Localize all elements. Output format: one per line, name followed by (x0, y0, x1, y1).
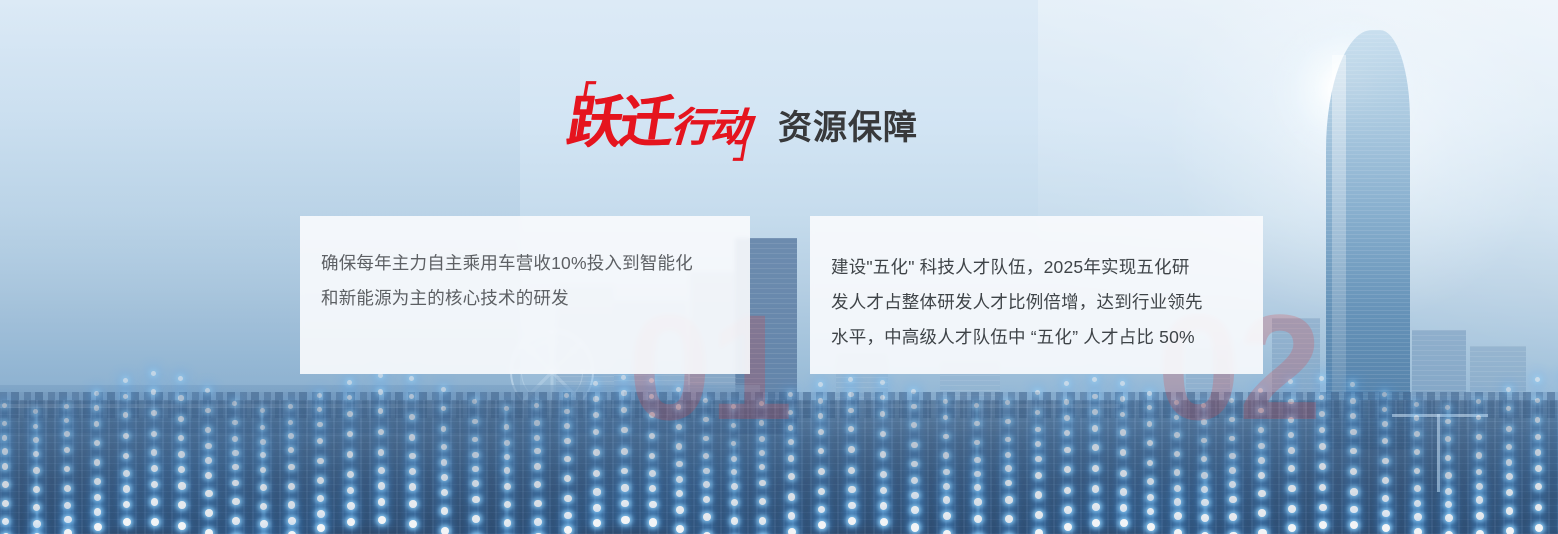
network-dot (409, 500, 417, 508)
network-dot (593, 449, 600, 456)
network-dot (347, 395, 352, 400)
network-dot (534, 448, 540, 454)
network-dot (1382, 438, 1388, 444)
network-dot (1319, 443, 1326, 450)
network-dot (880, 487, 887, 494)
network-dot (472, 466, 479, 473)
network-dot (1092, 519, 1100, 527)
network-dot (731, 456, 737, 462)
network-dot (1147, 460, 1154, 467)
network-dot (260, 503, 267, 510)
network-dot (731, 483, 738, 490)
network-dot (178, 376, 183, 381)
network-dot (1092, 394, 1097, 399)
network-dot (1120, 429, 1126, 435)
network-dot (1147, 405, 1152, 410)
network-dot (178, 466, 185, 473)
network-dot (94, 494, 101, 501)
network-dot (1120, 412, 1126, 418)
network-dot (1350, 521, 1358, 529)
quote-close-mark: 「 (732, 129, 767, 159)
network-dot (1064, 487, 1071, 494)
network-dot (818, 468, 825, 475)
network-dot (880, 451, 887, 458)
network-dot (205, 490, 212, 497)
network-dot (1035, 529, 1043, 534)
network-dot (1147, 478, 1154, 485)
network-dot (178, 482, 185, 489)
network-dot (288, 501, 295, 508)
network-dot (205, 408, 210, 413)
network-dot (151, 465, 158, 472)
network-dot (1288, 485, 1295, 492)
network-dot (943, 415, 948, 420)
network-dot (151, 498, 159, 506)
network-dot (1535, 434, 1541, 440)
network-dot (943, 399, 948, 404)
network-dot (1064, 447, 1071, 454)
network-dot (943, 483, 950, 490)
network-dot (288, 447, 294, 453)
network-dot (288, 464, 295, 471)
network-dot (564, 409, 569, 414)
network-dot (1445, 488, 1452, 495)
network-dot (504, 454, 510, 460)
network-dot (123, 485, 130, 492)
network-dot (703, 496, 710, 503)
network-dot (1535, 524, 1543, 532)
network-dot (1005, 437, 1011, 443)
network-dot (151, 410, 157, 416)
network-dot (123, 518, 131, 526)
network-dot (880, 411, 886, 417)
network-dot (1445, 455, 1451, 461)
network-dot (94, 459, 101, 466)
network-dot (1035, 427, 1041, 433)
network-dot (818, 398, 823, 403)
network-dot (911, 477, 918, 484)
network-dot (703, 468, 710, 475)
network-dot (178, 522, 186, 530)
network-dot (1092, 409, 1098, 415)
network-dot (94, 523, 102, 531)
network-dot (848, 392, 853, 397)
network-dot (1414, 528, 1422, 534)
network-dot (2, 463, 9, 470)
network-dot (676, 476, 683, 483)
network-dot (64, 466, 71, 473)
network-dot (1064, 466, 1071, 473)
network-dot (1476, 483, 1483, 490)
network-dot (232, 436, 238, 442)
network-dot (472, 496, 479, 503)
network-dot (1445, 501, 1452, 508)
network-dot (260, 425, 265, 430)
network-dot (848, 486, 855, 493)
network-dot (151, 481, 158, 488)
network-dot (649, 485, 656, 492)
network-dot (911, 389, 916, 394)
network-dot (1092, 425, 1098, 431)
network-dot (1350, 398, 1355, 403)
network-dot (123, 378, 128, 383)
network-dot (621, 500, 629, 508)
network-dot (1005, 400, 1010, 405)
network-dot (205, 472, 212, 479)
network-dot (441, 406, 446, 411)
network-dot (911, 422, 917, 428)
network-dot (317, 524, 325, 532)
campaign-logo: 「 跃迁 行动 「 (568, 96, 752, 150)
network-dot (621, 407, 627, 413)
network-dot (593, 519, 601, 527)
network-dot (621, 484, 628, 491)
network-dot (880, 471, 887, 478)
network-dot (504, 424, 509, 429)
network-dot (593, 412, 599, 418)
network-dot (1506, 426, 1512, 432)
network-dot (1064, 506, 1072, 514)
network-dot (33, 520, 41, 528)
network-dot (260, 467, 267, 474)
network-dot (64, 431, 70, 437)
network-dot (788, 512, 796, 520)
network-dot (1319, 427, 1325, 433)
network-dot (2, 500, 9, 507)
network-dot (64, 404, 69, 409)
network-dot (1092, 377, 1097, 382)
network-dot (347, 411, 353, 417)
network-dot (1535, 465, 1542, 472)
network-dot (1147, 440, 1153, 446)
network-dot (1382, 421, 1388, 427)
network-dot (1414, 513, 1422, 521)
network-dot (1288, 524, 1296, 532)
network-dot (472, 419, 477, 424)
network-dot (1414, 485, 1421, 492)
network-dot (534, 420, 539, 425)
network-dot (1288, 505, 1296, 513)
network-dot (1445, 531, 1453, 534)
network-dot (731, 499, 738, 506)
network-dot (378, 389, 383, 394)
network-dot (943, 496, 950, 503)
network-dot (1382, 392, 1387, 397)
network-dot (534, 403, 539, 408)
network-dot (593, 470, 600, 477)
network-dot (1506, 459, 1513, 466)
network-dot (911, 442, 917, 448)
network-dot (880, 518, 888, 526)
network-dot (911, 492, 918, 499)
network-dot (1092, 465, 1099, 472)
network-dot (1506, 473, 1513, 480)
network-dot (703, 481, 710, 488)
network-dot (33, 424, 38, 429)
network-dot (1535, 483, 1542, 490)
network-dot (621, 390, 626, 395)
network-dot (818, 488, 825, 495)
network-dot (1201, 486, 1208, 493)
network-dot (564, 512, 572, 520)
network-dot (94, 508, 102, 516)
network-dot (1506, 444, 1512, 450)
network-dot (880, 431, 886, 437)
network-dot (1476, 469, 1483, 476)
network-dot (1476, 434, 1482, 440)
network-dot (1382, 495, 1389, 502)
network-dot (1476, 496, 1483, 503)
network-dot (409, 434, 415, 440)
network-dot (703, 513, 711, 521)
network-dot (33, 486, 40, 493)
network-dot (288, 404, 293, 409)
network-dot (504, 483, 511, 490)
network-dot (288, 433, 294, 439)
network-dot (1414, 431, 1420, 437)
network-dot (1092, 503, 1100, 511)
network-dot (676, 490, 683, 497)
network-dot (1092, 444, 1099, 451)
network-dot (1005, 452, 1011, 458)
network-dot (1382, 510, 1390, 518)
network-dot (1319, 463, 1326, 470)
network-dot (1258, 509, 1266, 517)
network-dot (317, 422, 323, 428)
network-dot (1120, 504, 1128, 512)
network-dot (911, 523, 919, 531)
network-dot (123, 433, 129, 439)
network-dot (1120, 519, 1128, 527)
network-dot (317, 477, 324, 484)
network-dot (564, 393, 569, 398)
network-dot (943, 469, 950, 476)
network-dot (317, 458, 324, 465)
network-dot (1035, 441, 1041, 447)
network-dot (1506, 387, 1511, 392)
network-dot (1476, 399, 1481, 404)
network-dot (848, 467, 855, 474)
network-dot (943, 434, 949, 440)
network-dot (64, 516, 72, 524)
network-dot (1035, 390, 1040, 395)
network-dot (260, 484, 267, 491)
network-dot (593, 429, 599, 435)
network-dot (378, 449, 385, 456)
network-dot (409, 376, 414, 381)
network-dot (759, 450, 765, 456)
network-dot (409, 453, 416, 460)
network-dot (621, 375, 626, 380)
network-dot (64, 502, 71, 509)
network-dot (621, 427, 627, 433)
network-dot (1201, 499, 1208, 506)
network-dot (1476, 415, 1481, 420)
network-dot (1382, 477, 1389, 484)
network-dot (347, 487, 354, 494)
info-card-02-text: 建设"五化" 科技人才队伍，2025年实现五化研 发人才占整体研发人才比例倍增，… (831, 250, 1245, 355)
network-dot (1288, 465, 1295, 472)
network-dot (1258, 472, 1265, 479)
slide-root: 01 02 「 跃迁 行动 「 资源保障 确保每年主力自主乘用车营收10%投入到… (0, 0, 1558, 534)
network-dot (1476, 512, 1484, 520)
network-dot (1229, 467, 1236, 474)
network-dot (1506, 507, 1514, 515)
network-dot (848, 502, 856, 510)
network-dot (378, 467, 385, 474)
network-dot (1174, 469, 1181, 476)
network-dot (317, 438, 323, 444)
network-dot (232, 480, 239, 487)
network-dot (911, 404, 916, 409)
network-dot (378, 516, 386, 524)
network-dot (1092, 485, 1099, 492)
network-dot (759, 498, 766, 505)
network-dot (1382, 524, 1390, 532)
network-dot (1350, 382, 1355, 387)
network-dot (534, 500, 541, 507)
network-dot (94, 405, 99, 410)
network-dot (441, 474, 448, 481)
network-dot (1005, 496, 1012, 503)
network-dot (649, 501, 657, 509)
network-dot (974, 457, 980, 463)
network-dot (1174, 485, 1181, 492)
network-dot (848, 408, 854, 414)
network-dot (1350, 468, 1357, 475)
network-dot (703, 453, 709, 459)
network-dot (347, 502, 355, 510)
network-dot (441, 507, 449, 515)
network-dot (1350, 448, 1357, 455)
network-dot (504, 519, 512, 527)
network-dot (178, 395, 183, 400)
network-dot (621, 516, 629, 524)
network-dot (1258, 490, 1265, 497)
network-dot (1476, 452, 1482, 458)
network-dot (123, 470, 130, 477)
network-dot (2, 481, 9, 488)
network-dot (1005, 465, 1012, 472)
network-dot (64, 447, 70, 453)
network-dot (123, 453, 130, 460)
network-dot (974, 498, 981, 505)
network-dot (94, 391, 99, 396)
network-dot (441, 527, 449, 534)
network-dot (151, 389, 156, 394)
network-dot (178, 501, 186, 509)
network-dot (178, 451, 185, 458)
network-dot (1445, 472, 1452, 479)
network-dot (151, 518, 159, 526)
network-dot (151, 431, 157, 437)
network-dot (788, 473, 795, 480)
network-dot (593, 488, 600, 495)
network-dot (911, 461, 918, 468)
network-dot (1414, 500, 1421, 507)
network-dot (1035, 511, 1043, 519)
network-dot (943, 512, 951, 520)
network-dot (64, 418, 69, 423)
network-dot (759, 480, 766, 487)
network-dot (1319, 521, 1327, 529)
network-dot (232, 517, 240, 525)
network-dot (1414, 402, 1419, 407)
network-dot (974, 515, 982, 523)
network-dot (1506, 406, 1511, 411)
network-dot (1319, 504, 1327, 512)
network-dot (649, 470, 656, 477)
page-subtitle: 资源保障 (778, 111, 918, 145)
network-dot (441, 387, 446, 392)
network-dot (818, 448, 825, 455)
network-dot (94, 478, 101, 485)
network-dot (1064, 523, 1072, 531)
network-dot (378, 482, 385, 489)
network-dot (848, 517, 856, 525)
network-dot (205, 443, 211, 449)
network-dot (1535, 449, 1542, 456)
network-dot (818, 413, 824, 419)
network-dot (1064, 430, 1070, 436)
network-dot (1229, 496, 1236, 503)
network-dot (288, 517, 296, 525)
network-dot (288, 420, 293, 425)
network-dot (1120, 396, 1125, 401)
network-dot (1147, 421, 1153, 427)
network-dot (347, 451, 354, 458)
network-dot (974, 484, 981, 491)
network-dot (880, 502, 888, 510)
network-dot (317, 495, 324, 502)
network-dot (1005, 419, 1010, 424)
network-dot (123, 501, 131, 509)
network-dot (409, 520, 417, 528)
network-dot (1258, 457, 1265, 464)
network-dot (534, 463, 541, 470)
network-dot (2, 421, 7, 426)
network-dot (1229, 453, 1235, 459)
network-dot (232, 498, 239, 505)
network-dot (2, 518, 10, 526)
network-dot (409, 483, 416, 490)
network-dot (818, 429, 824, 435)
network-dot (1350, 413, 1356, 419)
network-dot (1535, 377, 1540, 382)
page-title: 「 跃迁 行动 「 资源保障 (568, 96, 918, 150)
network-dot (123, 394, 128, 399)
network-dot (1229, 513, 1237, 521)
network-dot (347, 431, 353, 437)
network-dot (1382, 458, 1389, 465)
network-dot (472, 480, 479, 487)
network-dot (818, 382, 823, 387)
network-dot (472, 515, 480, 523)
network-dot (472, 437, 478, 443)
network-dot (1035, 472, 1042, 479)
network-dot (232, 401, 237, 406)
network-dot (818, 521, 826, 529)
network-dot (347, 380, 352, 385)
network-dot (564, 423, 570, 429)
network-dot (911, 506, 919, 514)
network-dot (504, 501, 511, 508)
info-card-02: 建设"五化" 科技人才队伍，2025年实现五化研 发人才占整体研发人才比例倍增，… (810, 216, 1263, 374)
network-dot (409, 414, 415, 420)
background-photo (0, 0, 1558, 534)
network-dot (441, 459, 448, 466)
network-dot (1201, 514, 1209, 522)
